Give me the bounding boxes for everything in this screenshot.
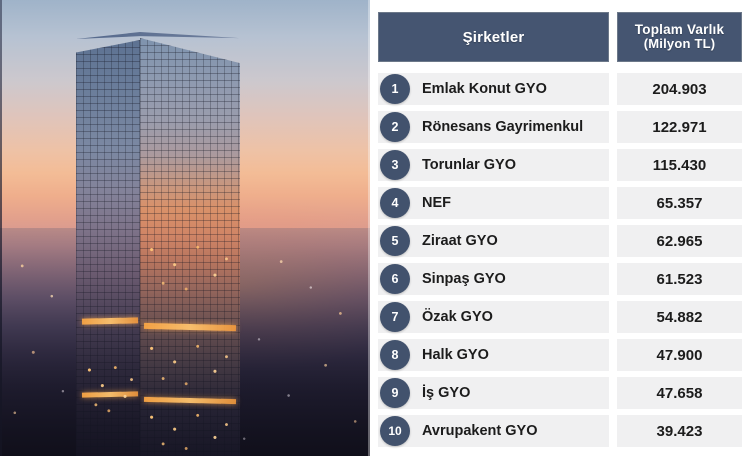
column-header-total-assets-label: Toplam Varlık <box>635 22 724 37</box>
total-assets-value: 204.903 <box>617 73 742 105</box>
infographic-root: Şirketler Toplam Varlık (Milyon TL) 1 Em… <box>0 0 750 456</box>
table-row: 6 Sinpaş GYO 61.523 <box>370 263 750 295</box>
tower-lit-windows-b <box>142 338 238 390</box>
glass-tower <box>76 2 240 456</box>
table-row: 5 Ziraat GYO 62.965 <box>370 225 750 257</box>
rank-badge: 8 <box>380 340 410 370</box>
table-row: 7 Özak GYO 54.882 <box>370 301 750 333</box>
total-assets-value: 47.900 <box>617 339 742 371</box>
company-name: Halk GYO <box>422 339 489 371</box>
table-row: 3 Torunlar GYO 115.430 <box>370 149 750 181</box>
company-name: İş GYO <box>422 377 470 409</box>
total-assets-value: 65.357 <box>617 187 742 219</box>
table-row: 10 Avrupakent GYO 39.423 <box>370 415 750 447</box>
skyscraper-photo <box>0 0 370 456</box>
total-assets-value: 62.965 <box>617 225 742 257</box>
rank-badge: 6 <box>380 264 410 294</box>
company-cell: 9 İş GYO <box>378 377 609 409</box>
company-name: Rönesans Gayrimenkul <box>422 111 583 143</box>
column-header-total-assets: Toplam Varlık (Milyon TL) <box>617 12 742 62</box>
table-body: 1 Emlak Konut GYO 204.903 2 Rönesans Gay… <box>370 73 750 453</box>
tower-lit-windows-d <box>142 408 238 454</box>
table-header-row: Şirketler Toplam Varlık (Milyon TL) <box>370 12 750 62</box>
table-row: 2 Rönesans Gayrimenkul 122.971 <box>370 111 750 143</box>
rank-badge: 3 <box>380 150 410 180</box>
column-header-companies-label: Şirketler <box>463 29 525 46</box>
rank-badge: 10 <box>380 416 410 446</box>
tower-lit-windows-c <box>84 358 138 418</box>
rank-badge: 7 <box>380 302 410 332</box>
total-assets-value: 115.430 <box>617 149 742 181</box>
company-name: Özak GYO <box>422 301 493 333</box>
company-cell: 5 Ziraat GYO <box>378 225 609 257</box>
table-row: 8 Halk GYO 47.900 <box>370 339 750 371</box>
company-cell: 2 Rönesans Gayrimenkul <box>378 111 609 143</box>
table-row: 1 Emlak Konut GYO 204.903 <box>370 73 750 105</box>
total-assets-value: 61.523 <box>617 263 742 295</box>
rank-badge: 5 <box>380 226 410 256</box>
column-header-total-assets-unit: (Milyon TL) <box>644 37 716 52</box>
total-assets-value: 122.971 <box>617 111 742 143</box>
photo-left-edge <box>0 0 2 456</box>
rank-badge: 2 <box>380 112 410 142</box>
company-cell: 8 Halk GYO <box>378 339 609 371</box>
rank-badge: 9 <box>380 378 410 408</box>
ranking-table: Şirketler Toplam Varlık (Milyon TL) 1 Em… <box>370 0 750 456</box>
tower-lit-band-upper <box>82 317 138 324</box>
company-name: NEF <box>422 187 451 219</box>
company-cell: 3 Torunlar GYO <box>378 149 609 181</box>
total-assets-value: 54.882 <box>617 301 742 333</box>
total-assets-value: 39.423 <box>617 415 742 447</box>
company-cell: 7 Özak GYO <box>378 301 609 333</box>
company-name: Torunlar GYO <box>422 149 516 181</box>
company-cell: 6 Sinpaş GYO <box>378 263 609 295</box>
company-name: Ziraat GYO <box>422 225 498 257</box>
tower-lit-windows-a <box>142 238 238 296</box>
company-cell: 1 Emlak Konut GYO <box>378 73 609 105</box>
company-name: Sinpaş GYO <box>422 263 506 295</box>
company-cell: 10 Avrupakent GYO <box>378 415 609 447</box>
rank-badge: 1 <box>380 74 410 104</box>
company-name: Emlak Konut GYO <box>422 73 547 105</box>
table-row: 4 NEF 65.357 <box>370 187 750 219</box>
table-row: 9 İş GYO 47.658 <box>370 377 750 409</box>
rank-badge: 4 <box>380 188 410 218</box>
company-name: Avrupakent GYO <box>422 415 538 447</box>
total-assets-value: 47.658 <box>617 377 742 409</box>
company-cell: 4 NEF <box>378 187 609 219</box>
column-header-companies: Şirketler <box>378 12 609 62</box>
